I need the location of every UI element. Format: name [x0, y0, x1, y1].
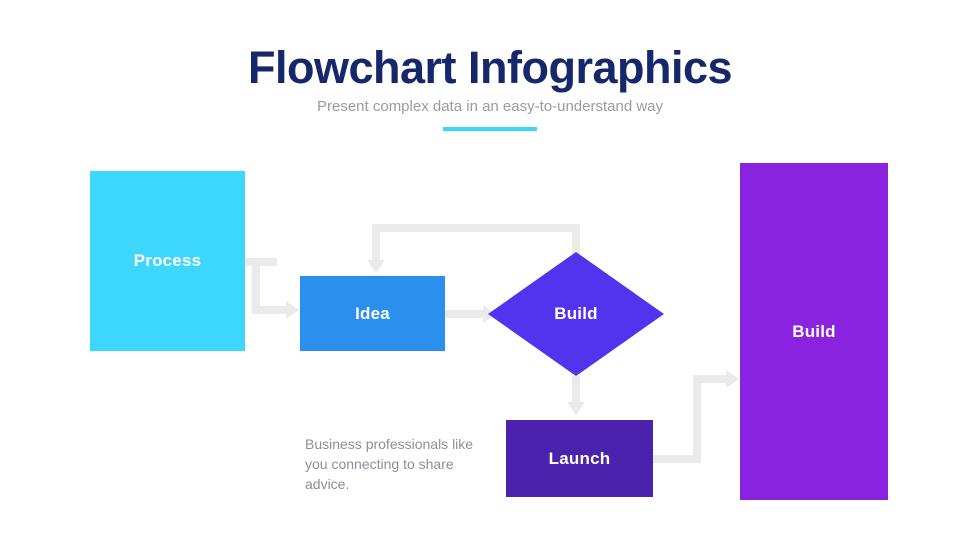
page-subtitle: Present complex data in an easy-to-under…	[0, 96, 980, 118]
flow-node-process[interactable]: Process	[90, 171, 245, 351]
connector-segment-vertical	[693, 375, 701, 463]
flow-node-launch[interactable]: Launch	[506, 420, 653, 497]
connector-segment-horizontal	[245, 258, 277, 266]
flow-node-build-tall[interactable]: Build	[740, 163, 888, 500]
page-title: Flowchart Infographics	[0, 40, 980, 96]
connector-segment-vertical	[572, 376, 580, 404]
flow-node-build-diamond[interactable]: Build	[488, 252, 664, 376]
arrow-right-icon	[726, 370, 739, 388]
flow-node-label: Process	[134, 251, 202, 271]
flow-node-label: Launch	[549, 449, 611, 469]
connector-segment-vertical	[372, 224, 380, 262]
flow-node-idea[interactable]: Idea	[300, 276, 445, 351]
arrow-down-icon	[367, 260, 385, 273]
flow-node-label: Idea	[355, 304, 390, 324]
flow-node-label: Build	[792, 322, 836, 342]
slide-canvas: Flowchart Infographics Present complex d…	[0, 0, 980, 551]
title-underline-accent	[443, 127, 537, 131]
connector-segment-horizontal	[252, 306, 288, 314]
connector-segment-horizontal	[445, 310, 485, 318]
connector-segment-horizontal	[372, 224, 580, 232]
arrow-right-icon	[286, 301, 299, 319]
body-paragraph: Business professionals like you connecti…	[305, 434, 495, 494]
flow-node-label: Build	[554, 304, 598, 324]
arrow-down-icon	[567, 402, 585, 415]
connector-segment-horizontal	[693, 375, 729, 383]
